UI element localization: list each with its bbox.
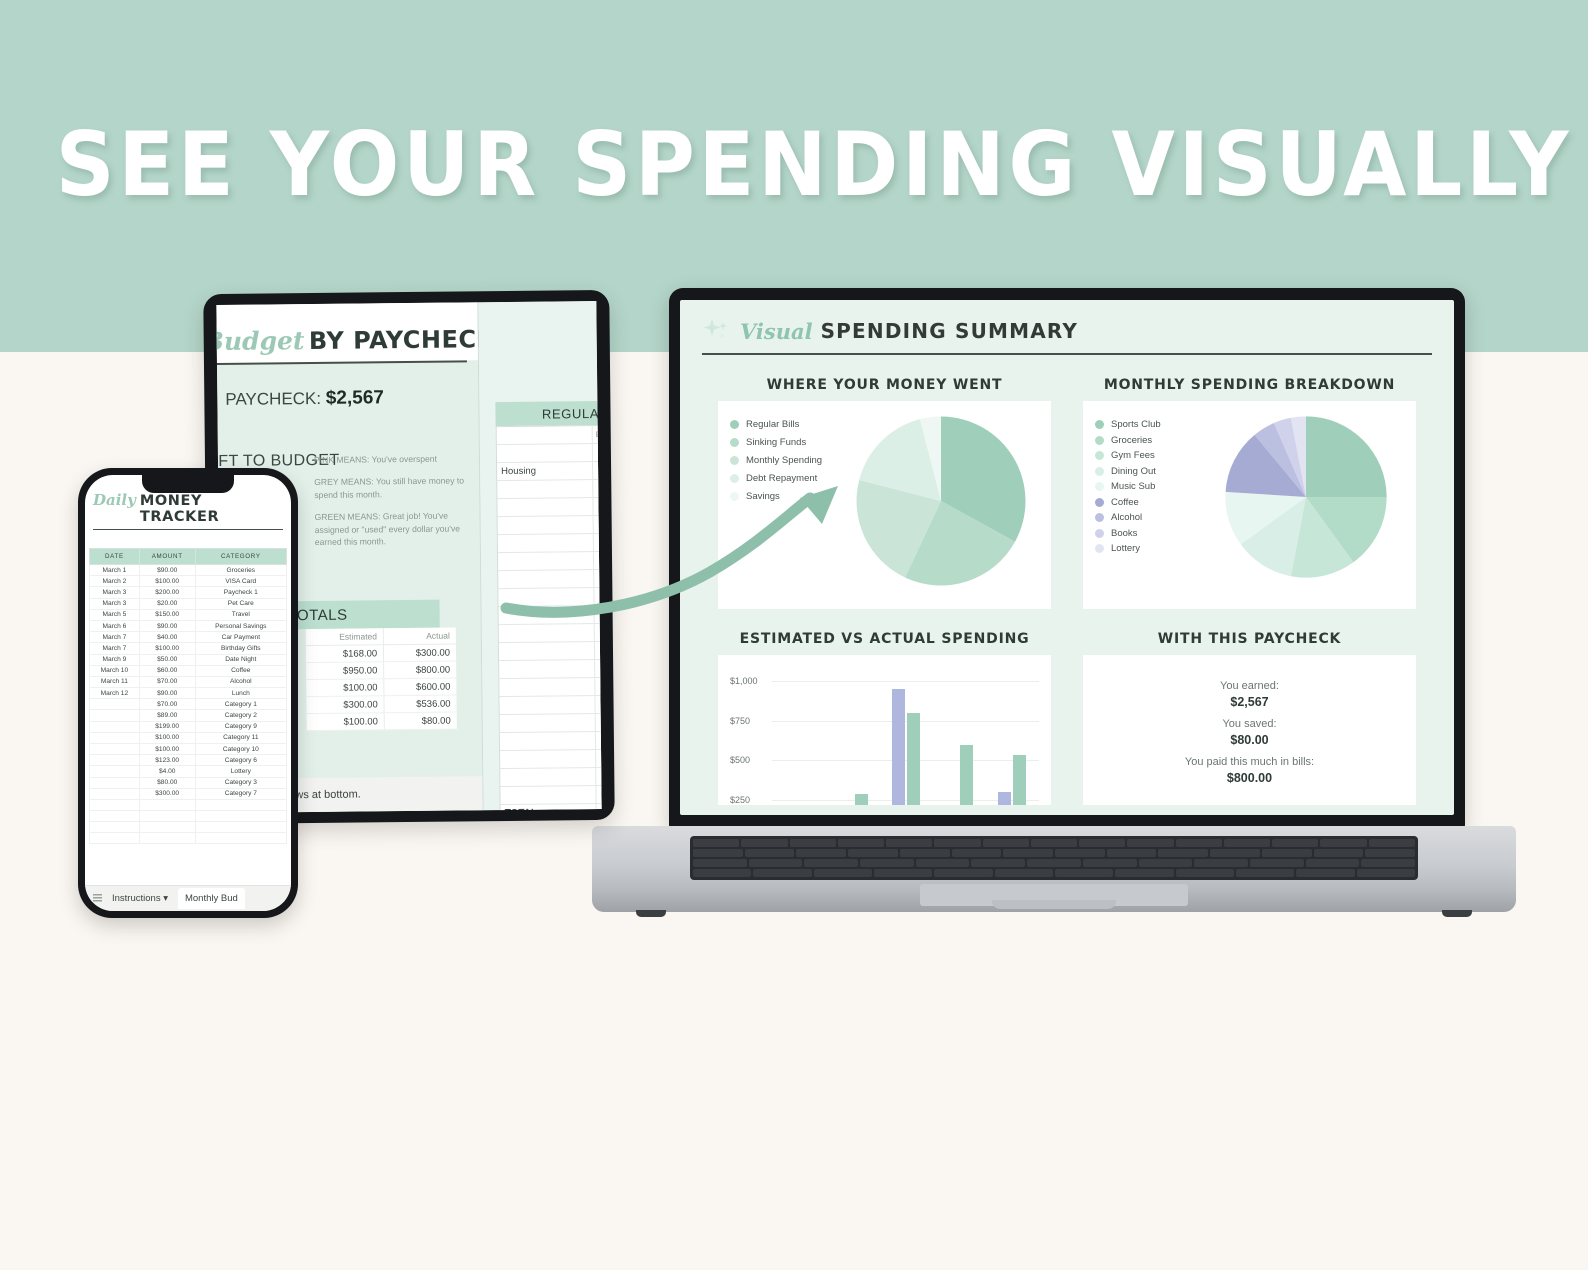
table-cell[interactable] (139, 810, 195, 821)
table-cell[interactable]: Category 9 (195, 721, 286, 732)
table-cell[interactable] (90, 721, 140, 732)
table-cell[interactable] (594, 533, 602, 551)
table-cell[interactable] (594, 551, 602, 569)
table-cell[interactable]: Coffee (195, 665, 286, 676)
table-cell[interactable]: Paycheck 1 (195, 587, 286, 598)
table-cell[interactable]: Travel (195, 609, 286, 620)
legend-color-dot (730, 420, 739, 429)
saved-value: $80.00 (1095, 733, 1404, 747)
keyboard-key[interactable] (1272, 839, 1318, 847)
bar (907, 713, 920, 805)
column-header: Estimated (306, 628, 384, 645)
table-cell[interactable]: Birthday Gifts (195, 643, 286, 654)
table-cell[interactable]: Category 10 (195, 744, 286, 755)
keyboard-key[interactable] (1003, 849, 1053, 857)
regular-total-label: TOTAL (501, 804, 597, 813)
keyboard-key[interactable] (1369, 839, 1415, 847)
table-row (497, 443, 602, 463)
table-row: March 3$20.00Pet Care (90, 598, 287, 609)
table-cell[interactable] (499, 678, 595, 696)
table-cell[interactable] (593, 461, 602, 479)
keyboard-key[interactable] (874, 869, 932, 877)
keyboard-key[interactable] (1055, 849, 1105, 857)
keyboard-key[interactable] (971, 859, 1025, 867)
table-row: $100.00$600.00 (306, 678, 456, 697)
table-cell[interactable] (595, 659, 602, 677)
table-cell[interactable] (595, 695, 601, 713)
table-cell[interactable] (500, 786, 596, 804)
keyboard-key[interactable] (1262, 849, 1312, 857)
table-cell: $80.00 (384, 712, 457, 730)
keyboard-key[interactable] (1027, 859, 1081, 867)
table-cell[interactable]: $100.00 (139, 576, 195, 587)
table-cell[interactable] (90, 755, 140, 766)
table-cell[interactable] (139, 821, 195, 832)
table-cell[interactable]: March 7 (90, 643, 140, 654)
keyboard-row (693, 849, 1415, 857)
table-row (498, 587, 601, 607)
table-cell[interactable]: Personal Savings (195, 620, 286, 631)
table-cell[interactable] (90, 732, 140, 743)
table-cell[interactable] (90, 699, 140, 710)
bar-group (778, 673, 825, 805)
table-cell[interactable] (498, 570, 594, 588)
laptop-feet (592, 910, 1516, 918)
keyboard-key[interactable] (1176, 839, 1222, 847)
keyboard-key[interactable] (1210, 849, 1260, 857)
table-cell[interactable]: $199.00 (139, 721, 195, 732)
laptop-trackpad[interactable] (920, 884, 1188, 906)
keyboard-key[interactable] (1083, 859, 1137, 867)
keyboard-key[interactable] (1158, 849, 1208, 857)
table-cell[interactable] (90, 832, 140, 843)
keyboard-key[interactable] (886, 839, 932, 847)
keyboard-key[interactable] (1127, 839, 1173, 847)
table-row: March 6$90.00Personal Savings (90, 620, 287, 631)
table-cell[interactable] (195, 832, 286, 843)
table-row: March 7$40.00Car Payment (90, 632, 287, 643)
table-row: $100.00$80.00 (307, 712, 457, 731)
legend-color-dot (1095, 498, 1104, 507)
table-cell[interactable]: Lottery (195, 766, 286, 777)
table-cell[interactable] (498, 588, 594, 606)
table-cell: $800.00 (384, 661, 457, 679)
table-cell: $600.00 (384, 678, 457, 696)
keyboard-key[interactable] (693, 869, 751, 877)
legend-color-dot (730, 492, 739, 501)
color-legend-note: GREEN MEANS: Great job! You've assigned … (315, 509, 465, 549)
legend-item: Gym Fees (1095, 450, 1207, 461)
pie-left-title: WHERE YOUR MONEY WENT (702, 377, 1067, 393)
keyboard-key[interactable] (838, 839, 884, 847)
table-row: $80.00Category 3 (90, 777, 287, 788)
legend-item: Debt Repayment (730, 473, 842, 484)
table-cell[interactable]: $100.00 (139, 732, 195, 743)
keyboard-key[interactable] (693, 859, 747, 867)
table-cell[interactable] (499, 642, 595, 660)
table-row (499, 659, 602, 679)
table-cell[interactable]: March 11 (90, 676, 140, 687)
table-cell[interactable]: March 12 (90, 688, 140, 699)
bar (892, 689, 905, 805)
table-cell[interactable]: March 3 (90, 587, 140, 598)
table-cell[interactable]: $200.00 (139, 587, 195, 598)
legend-item: Books (1095, 528, 1207, 539)
table-cell[interactable]: $50.00 (139, 654, 195, 665)
table-cell[interactable] (195, 821, 286, 832)
bar-chart-card: $250$500$750$1,000 (718, 655, 1051, 805)
pie-left-wrap (842, 413, 1039, 589)
legend-color-dot (1095, 513, 1104, 522)
table-cell[interactable]: March 7 (90, 632, 140, 643)
table-cell[interactable] (90, 777, 140, 788)
table-cell[interactable]: March 10 (90, 665, 140, 676)
laptop-keyboard[interactable] (690, 836, 1418, 880)
table-cell[interactable]: Category 3 (195, 777, 286, 788)
table-row: $70.00Category 1 (90, 699, 287, 710)
table-cell[interactable]: March 6 (90, 620, 140, 631)
table-cell[interactable]: March 9 (90, 654, 140, 665)
table-cell[interactable] (594, 587, 601, 605)
table-cell[interactable] (195, 810, 286, 821)
phone-screen: Daily MONEY TRACKER DATEAMOUNTCATEGORY M… (85, 475, 291, 911)
table-cell (597, 803, 602, 813)
keyboard-key[interactable] (796, 849, 846, 857)
table-cell[interactable]: Pet Care (195, 598, 286, 609)
table-cell[interactable]: Car Payment (195, 632, 286, 643)
keyboard-key[interactable] (693, 849, 743, 857)
keyboard-key[interactable] (1296, 869, 1354, 877)
table-cell[interactable] (595, 641, 602, 659)
tablet-title-script: Budget (216, 326, 304, 356)
pie-slice (1306, 416, 1387, 497)
table-header-row: DATEAMOUNTCATEGORY (90, 549, 287, 565)
table-cell[interactable]: $70.00 (139, 676, 195, 687)
keyboard-key[interactable] (1314, 849, 1364, 857)
table-cell[interactable] (595, 677, 601, 695)
panel-where-your-money-went: WHERE YOUR MONEY WENT Regular BillsSinki… (702, 355, 1067, 609)
table-cell[interactable]: $300.00 (139, 788, 195, 799)
table-cell[interactable]: $100.00 (139, 643, 195, 654)
table-cell[interactable] (593, 479, 601, 497)
table-row: March 10$60.00Coffee (90, 665, 287, 676)
tablet-right-pane: REGULAR EHousingTOTAL (478, 301, 601, 810)
table-cell[interactable] (596, 767, 601, 785)
table-cell[interactable] (594, 515, 602, 533)
table-row (90, 821, 287, 832)
table-cell[interactable] (90, 766, 140, 777)
legend-label: Books (1111, 528, 1137, 539)
table-cell[interactable]: $90.00 (139, 688, 195, 699)
keyboard-key[interactable] (934, 839, 980, 847)
table-cell[interactable]: $90.00 (139, 620, 195, 631)
pie-left-legend: Regular BillsSinking FundsMonthly Spendi… (730, 413, 842, 509)
legend-item: Sports Club (1095, 419, 1207, 430)
table-cell[interactable] (596, 713, 602, 731)
table-cell[interactable] (596, 731, 602, 749)
pie-right-wrap (1207, 413, 1404, 581)
table-cell[interactable] (195, 799, 286, 810)
sheet-tab[interactable]: Instructions ▾ (112, 893, 168, 904)
table-row: March 1$90.00Groceries (90, 565, 287, 576)
keyboard-key[interactable] (790, 839, 836, 847)
color-legend-note: GREY MEANS: You still have money to spen… (314, 474, 464, 501)
table-cell[interactable]: $70.00 (139, 699, 195, 710)
table-cell[interactable] (500, 768, 596, 786)
table-cell[interactable]: $40.00 (139, 632, 195, 643)
table-cell[interactable] (595, 605, 602, 623)
bar-group (831, 673, 878, 805)
page-title: SEE YOUR SPENDING VISUALLY (56, 113, 1533, 216)
table-cell[interactable]: March 5 (90, 609, 140, 620)
table-row (497, 479, 601, 499)
table-row (90, 799, 287, 810)
sheet-tab[interactable]: Monthly Bud (178, 888, 245, 909)
table-row: TOTAL (501, 803, 602, 813)
table-cell[interactable]: Category 7 (195, 788, 286, 799)
table-cell[interactable] (596, 749, 602, 767)
table-row: March 3$200.00Paycheck 1 (90, 587, 287, 598)
y-axis-tick-label: $250 (730, 795, 750, 805)
keyboard-key[interactable] (1107, 849, 1157, 857)
keyboard-key[interactable] (848, 849, 898, 857)
panel-estimated-vs-actual: ESTIMATED VS ACTUAL SPENDING $250$500$75… (702, 609, 1067, 805)
legend-label: Music Sub (1111, 481, 1155, 492)
legend-label: Monthly Spending (746, 455, 822, 466)
keyboard-key[interactable] (983, 839, 1029, 847)
legend-item: Alcohol (1095, 512, 1207, 523)
paycheck-panel-title: WITH THIS PAYCHECK (1067, 631, 1432, 647)
legend-label: Debt Repayment (746, 473, 817, 484)
tablet-paycheck-row: PAYCHECK: $2,567 (225, 387, 384, 411)
table-row (498, 551, 602, 571)
bar (960, 745, 973, 805)
legend-color-dot (1095, 467, 1104, 476)
table-cell[interactable]: Category 11 (195, 732, 286, 743)
keyboard-key[interactable] (1194, 859, 1248, 867)
table-cell[interactable]: $123.00 (139, 755, 195, 766)
table-cell[interactable]: March 2 (90, 576, 140, 587)
legend-color-dot (1095, 544, 1104, 553)
tablet-totals-header: TOTALS (279, 600, 439, 630)
table-cell: $100.00 (307, 713, 385, 731)
phone-sheet-tabs[interactable]: Instructions ▾Monthly Bud (85, 885, 291, 911)
summary-title-bold: SPENDING SUMMARY (821, 319, 1079, 343)
table-cell[interactable] (90, 821, 140, 832)
phone-device: Daily MONEY TRACKER DATEAMOUNTCATEGORY M… (78, 468, 298, 918)
table-cell[interactable] (90, 799, 140, 810)
table-cell[interactable]: Groceries (195, 565, 286, 576)
table-row (498, 533, 602, 553)
keyboard-key[interactable] (741, 839, 787, 847)
keyboard-key[interactable] (1176, 869, 1234, 877)
table-cell[interactable] (90, 744, 140, 755)
table-cell[interactable] (500, 714, 596, 732)
sparkle-icon (702, 316, 732, 346)
laptop-lid: Visual SPENDING SUMMARY WHERE YOUR MONEY… (669, 288, 1465, 828)
table-cell: $536.00 (384, 695, 457, 713)
keyboard-key[interactable] (934, 869, 992, 877)
keyboard-row (693, 839, 1415, 847)
summary-title-script: Visual (740, 319, 813, 344)
table-cell: $300.00 (306, 696, 384, 714)
color-legend-note: PINK MEANS: You've overspent (314, 452, 464, 466)
table-cell[interactable]: Category 2 (195, 710, 286, 721)
legend-color-dot (730, 474, 739, 483)
table-cell[interactable] (593, 497, 601, 515)
column-header: CATEGORY (195, 549, 286, 565)
tablet-paycheck-value: $2,567 (326, 387, 384, 409)
keyboard-key[interactable] (753, 869, 811, 877)
keyboard-key[interactable] (1139, 859, 1193, 867)
table-cell[interactable]: $89.00 (139, 710, 195, 721)
table-row (499, 605, 602, 625)
table-cell[interactable] (497, 480, 593, 498)
table-cell[interactable]: $20.00 (139, 598, 195, 609)
paycheck-card: You earned: $2,567 You saved: $80.00 You… (1083, 655, 1416, 805)
table-cell[interactable]: March 3 (90, 598, 140, 609)
table-cell[interactable] (90, 788, 140, 799)
legend-label: Groceries (1111, 435, 1152, 446)
keyboard-key[interactable] (1306, 859, 1360, 867)
keyboard-key[interactable] (1320, 839, 1366, 847)
tablet-totals-table: EstimatedActual $168.00$300.00$950.00$80… (306, 628, 457, 732)
table-cell[interactable]: Date Night (195, 654, 286, 665)
table-cell[interactable] (497, 444, 593, 462)
table-cell[interactable] (500, 732, 596, 750)
table-cell[interactable] (498, 552, 594, 570)
keyboard-key[interactable] (916, 859, 970, 867)
keyboard-key[interactable] (814, 869, 872, 877)
table-cell[interactable] (498, 534, 594, 552)
legend-item: Dining Out (1095, 466, 1207, 477)
table-cell[interactable] (139, 799, 195, 810)
table-row (500, 731, 602, 751)
keyboard-key[interactable] (995, 869, 1053, 877)
table-cell[interactable] (593, 443, 602, 461)
table-cell[interactable] (595, 623, 602, 641)
bar (855, 794, 868, 805)
table-body: $168.00$300.00$950.00$800.00$100.00$600.… (306, 644, 457, 731)
table-cell[interactable] (500, 750, 596, 768)
table-row (497, 497, 601, 517)
keyboard-key[interactable] (749, 859, 803, 867)
keyboard-key[interactable] (860, 859, 914, 867)
table-cell[interactable]: March 1 (90, 565, 140, 576)
table-cell[interactable]: $4.00 (139, 766, 195, 777)
table-cell[interactable]: Alcohol (195, 676, 286, 687)
keyboard-key[interactable] (804, 859, 858, 867)
y-axis-tick-label: $750 (730, 716, 750, 726)
table-header-row: EstimatedActual (306, 628, 456, 646)
keyboard-key[interactable] (1365, 849, 1415, 857)
table-cell[interactable] (499, 606, 595, 624)
table-cell[interactable]: Category 1 (195, 699, 286, 710)
table-row (499, 695, 601, 715)
table-cell[interactable]: Lunch (195, 688, 286, 699)
table-cell[interactable] (499, 624, 595, 642)
keyboard-key[interactable] (1357, 869, 1415, 877)
keyboard-key[interactable] (1236, 869, 1294, 877)
keyboard-key[interactable] (745, 849, 795, 857)
pie-right-title: MONTHLY SPENDING BREAKDOWN (1067, 377, 1432, 393)
table-cell[interactable] (499, 660, 595, 678)
phone-notch (142, 475, 234, 493)
panel-with-this-paycheck: WITH THIS PAYCHECK You earned: $2,567 Yo… (1067, 609, 1432, 805)
table-row: March 9$50.00Date Night (90, 654, 287, 665)
keyboard-key[interactable] (1250, 859, 1304, 867)
table-row: $89.00Category 2 (90, 710, 287, 721)
table-row: $4.00Lottery (90, 766, 287, 777)
table-cell[interactable]: $150.00 (139, 609, 195, 620)
keyboard-key[interactable] (1361, 859, 1415, 867)
laptop-screen: Visual SPENDING SUMMARY WHERE YOUR MONEY… (680, 300, 1454, 815)
table-cell[interactable] (90, 810, 140, 821)
table-cell[interactable]: Housing (497, 462, 593, 480)
table-row: $199.00Category 9 (90, 721, 287, 732)
bar-series-container (778, 673, 1035, 805)
table-row (500, 767, 601, 787)
table-cell[interactable] (594, 569, 602, 587)
pie-right-chart (1222, 413, 1390, 581)
table-cell[interactable] (499, 696, 595, 714)
pie-right-legend: Sports ClubGroceriesGym FeesDining OutMu… (1095, 413, 1207, 559)
keyboard-key[interactable] (1031, 839, 1077, 847)
keyboard-key[interactable] (1115, 869, 1173, 877)
earned-value: $2,567 (1095, 695, 1404, 709)
column-header: AMOUNT (139, 549, 195, 565)
bar-chart-plot: $250$500$750$1,000 (730, 665, 1039, 805)
table-row: March 11$70.00Alcohol (90, 676, 287, 687)
dashboard-top-row: WHERE YOUR MONEY WENT Regular BillsSinki… (680, 355, 1454, 609)
phone-title: Daily MONEY TRACKER (93, 491, 283, 530)
column-header: Actual (383, 628, 456, 645)
table-cell[interactable] (139, 832, 195, 843)
table-cell[interactable]: Category 6 (195, 755, 286, 766)
legend-label: Dining Out (1111, 466, 1156, 477)
keyboard-row (693, 869, 1415, 877)
keyboard-key[interactable] (1055, 869, 1113, 877)
table-cell[interactable]: $100.00 (139, 744, 195, 755)
table-cell[interactable]: $60.00 (139, 665, 195, 676)
table-cell[interactable] (90, 710, 140, 721)
table-cell[interactable] (497, 498, 593, 516)
keyboard-key[interactable] (693, 839, 739, 847)
keyboard-key[interactable] (900, 849, 950, 857)
bar-group (988, 673, 1035, 805)
hamburger-icon[interactable] (93, 894, 102, 903)
saved-label: You saved: (1095, 718, 1404, 730)
pie-left-card: Regular BillsSinking FundsMonthly Spendi… (718, 401, 1051, 609)
table-row: March 7$100.00Birthday Gifts (90, 643, 287, 654)
table-cell[interactable]: VISA Card (195, 576, 286, 587)
keyboard-key[interactable] (1224, 839, 1270, 847)
table-row: March 2$100.00VISA Card (90, 576, 287, 587)
table-row: $100.00Category 10 (90, 744, 287, 755)
table-row: Housing (497, 461, 602, 481)
table-cell (497, 426, 593, 444)
regular-expenses-table: EHousingTOTAL (496, 424, 602, 813)
legend-item: Music Sub (1095, 481, 1207, 492)
bills-value: $800.00 (1095, 771, 1404, 785)
table-cell: $300.00 (384, 644, 457, 662)
keyboard-key[interactable] (1079, 839, 1125, 847)
keyboard-key[interactable] (952, 849, 1002, 857)
table-cell[interactable]: $90.00 (139, 565, 195, 576)
table-cell[interactable]: $80.00 (139, 777, 195, 788)
table-cell[interactable] (596, 785, 601, 803)
table-cell[interactable] (498, 516, 594, 534)
